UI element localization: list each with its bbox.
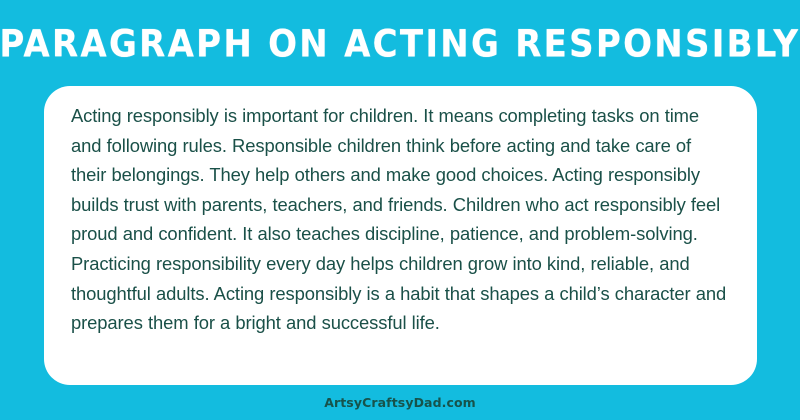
site-watermark: ArtsyCraftsyDad.com: [324, 395, 476, 410]
page-title: Paragraph On Acting Responsibly: [0, 25, 800, 62]
paragraph-body-text: Acting responsibly is important for chil…: [71, 101, 729, 338]
footer-area: ArtsyCraftsyDad.com: [0, 385, 800, 420]
content-card: Acting responsibly is important for chil…: [44, 86, 757, 385]
poster-canvas: Paragraph On Acting Responsibly Acting r…: [0, 0, 800, 420]
title-area: Paragraph On Acting Responsibly: [0, 0, 800, 86]
